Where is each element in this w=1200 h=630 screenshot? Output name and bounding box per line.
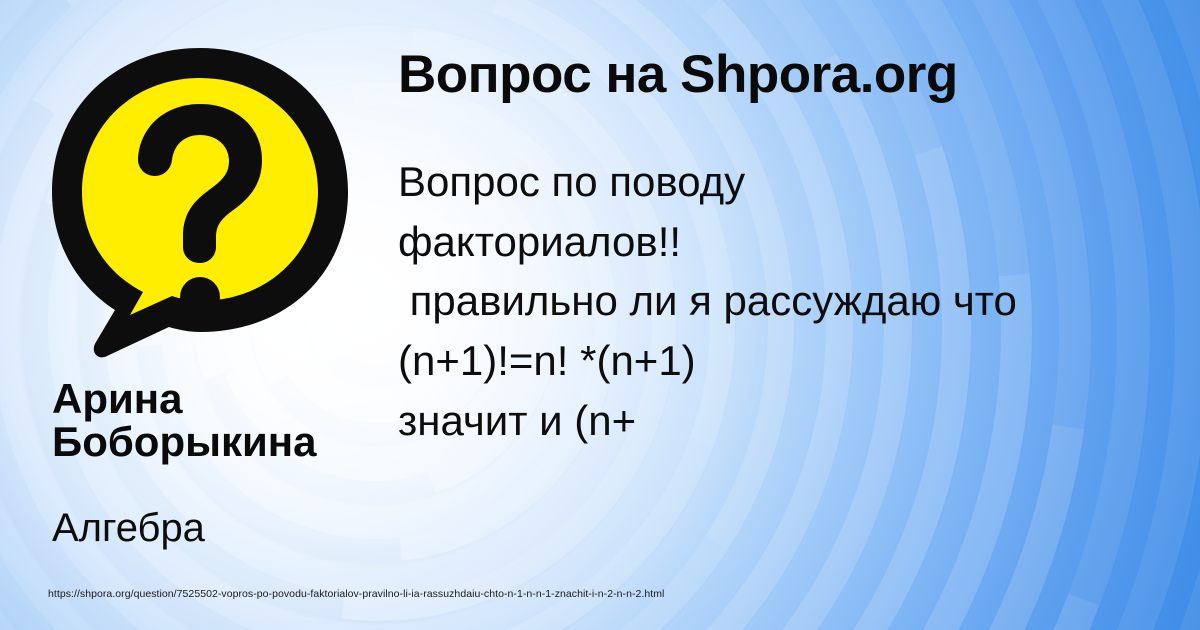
author-first-name: Арина — [52, 378, 482, 421]
author-name: Арина Боборыкина — [52, 378, 482, 464]
question-line: значит и (n+ — [398, 391, 1200, 451]
source-url[interactable]: https://shpora.org/question/7525502-vopr… — [48, 588, 664, 601]
share-card: Вопрос на Shpora.org Вопрос по поводуфак… — [0, 0, 1200, 630]
question-line: (n+1)!=n! *(n+1) — [398, 331, 1200, 391]
question-text: Вопрос по поводуфакториалов!! правильно … — [398, 152, 1200, 450]
author-last-name: Боборыкина — [52, 421, 482, 464]
question-speech-bubble-icon — [44, 42, 356, 362]
subject-label: Алгебра — [52, 506, 205, 550]
page-title: Вопрос на Shpora.org — [398, 47, 958, 103]
question-line: Вопрос по поводу — [398, 152, 1200, 212]
question-line: правильно ли я рассуждаю что — [398, 271, 1200, 331]
question-line: факториалов!! — [398, 212, 1200, 272]
